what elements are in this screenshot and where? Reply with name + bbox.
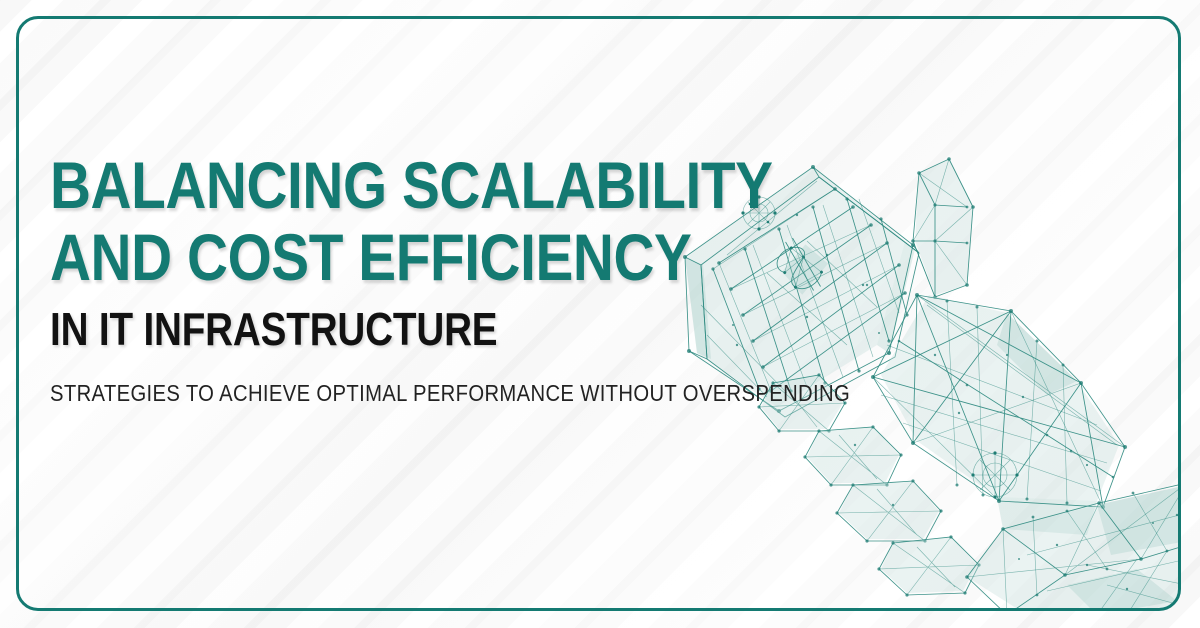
headline-block: BALANCING SCALABILITY AND COST EFFICIENC… [50, 150, 780, 406]
tagline-text: STRATEGIES TO ACHIEVE OPTIMAL PERFORMANC… [50, 380, 692, 406]
headline-line-1: BALANCING SCALABILITY [50, 150, 678, 220]
banner-root: .ln { stroke:#2e8a80; stroke-width:0.85;… [0, 0, 1200, 628]
headline-line-3: IN IT INFRASTRUCTURE [50, 304, 663, 354]
headline-line-2: AND COST EFFICIENCY [50, 222, 678, 292]
